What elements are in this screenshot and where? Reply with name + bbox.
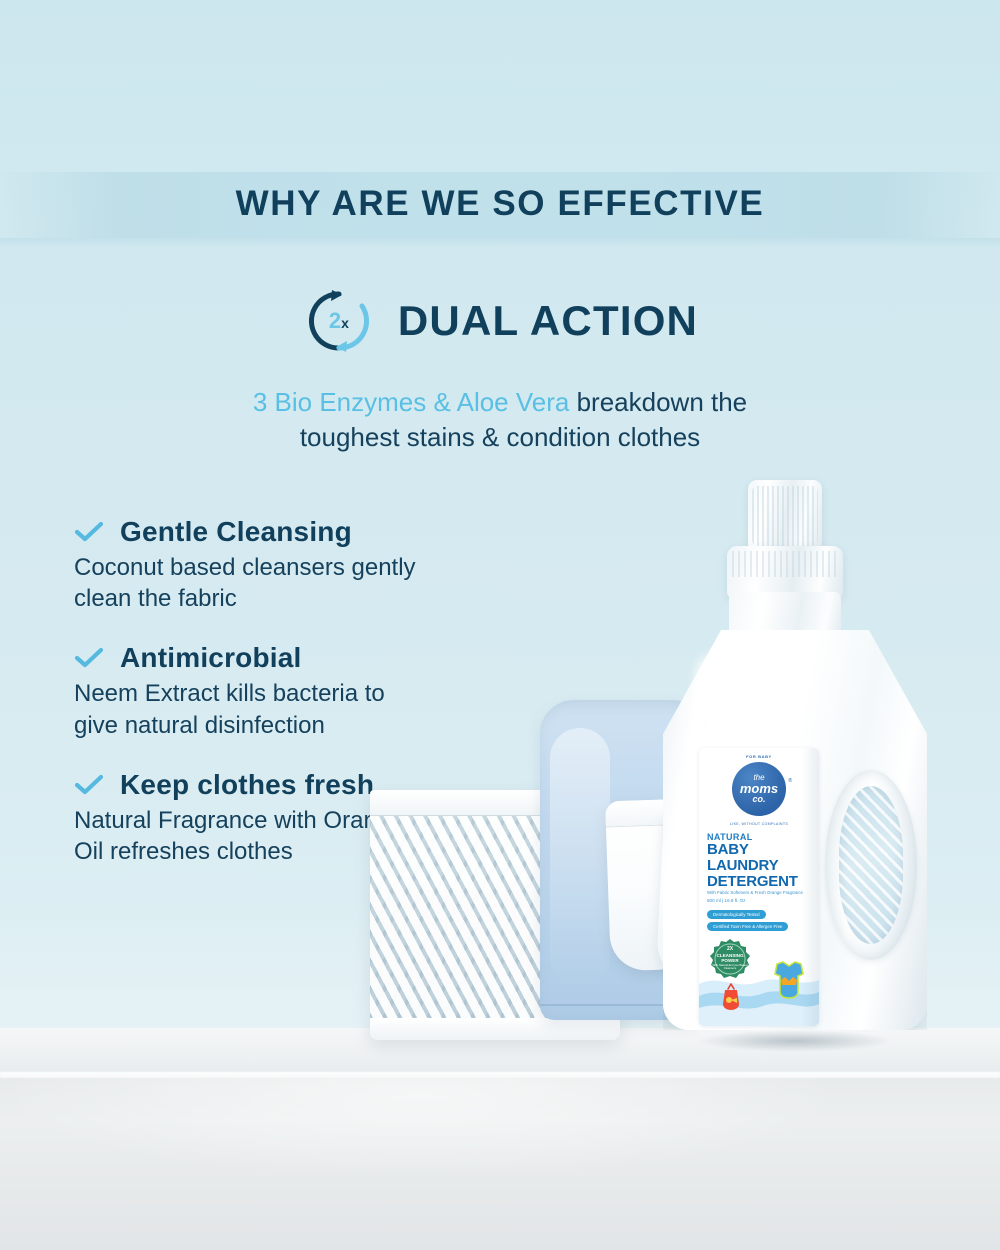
benefit-body-line1: Neem Extract kills bacteria to (74, 680, 385, 707)
table-front-panel (0, 1078, 1000, 1250)
bottle-shadow (661, 1026, 929, 1056)
circular-arrows-2x-icon: 2x (302, 284, 376, 358)
brand-arc-top: FOR BABY (724, 754, 794, 759)
dual-action-row: 2x DUAL ACTION (0, 284, 1000, 358)
dual-action-badge-number: 2 (329, 308, 341, 333)
benefit-header: Antimicrobial (74, 642, 574, 674)
product-marketing-banner: WHY ARE WE SO EFFECTIVE 2x DUAL ACTION 3… (0, 0, 1000, 1250)
basket-base (370, 1018, 620, 1040)
benefit-body-line2: give natural disinfection (74, 712, 325, 739)
product-bottle: FOR BABY the moms co. ® LIKE, WITHOUT CO… (655, 480, 935, 1050)
bottle-cap (748, 480, 822, 554)
label-name-line1: BABY (707, 841, 749, 858)
subtitle-rest: breakdown the (569, 387, 747, 417)
benefit-body-line2: Oil refreshes clothes (74, 838, 293, 865)
registered-mark: ® (788, 778, 792, 784)
check-icon (74, 521, 104, 543)
check-icon (74, 647, 104, 669)
dual-action-title: DUAL ACTION (398, 297, 698, 345)
check-icon (74, 774, 104, 796)
brand-logo-circle: the moms co. (732, 762, 786, 816)
benefit-title: Antimicrobial (120, 642, 302, 674)
benefit-item: Gentle Cleansing Coconut based cleansers… (74, 516, 574, 614)
brand-logo: FOR BABY the moms co. ® LIKE, WITHOUT CO… (724, 754, 794, 824)
label-name-line2: LAUNDRY (707, 857, 778, 874)
dual-action-subtitle: 3 Bio Enzymes & Aloe Vera breakdown the … (0, 385, 1000, 456)
subtitle-highlight: 3 Bio Enzymes & Aloe Vera (253, 387, 570, 417)
benefit-body-line2: clean the fabric (74, 585, 237, 612)
bottle-handle-hole (839, 786, 903, 944)
laundry-bag-icon (719, 982, 743, 1012)
bottle-handle (825, 770, 917, 960)
benefit-body: Coconut based cleansers gently clean the… (74, 552, 574, 614)
label-description: With Fabric Softeners & Fresh Orange Fra… (707, 890, 813, 897)
product-label: FOR BABY the moms co. ® LIKE, WITHOUT CO… (699, 748, 819, 1026)
label-curvature-shade (801, 748, 819, 1026)
label-name-line3: DETERGENT (707, 873, 798, 890)
benefit-body-line1: Natural Fragrance with Orange (74, 807, 403, 834)
bottle-cap-base (727, 546, 843, 598)
brand-line-2: moms (740, 782, 778, 795)
subtitle-line2: toughest stains & condition clothes (300, 422, 700, 452)
dual-action-badge-suffix: x (341, 315, 349, 331)
brand-line-3: co. (752, 795, 765, 804)
benefit-header: Gentle Cleansing (74, 516, 574, 548)
benefit-title: Gentle Cleansing (120, 516, 352, 548)
label-badge-toxin-free: Certified Toxin Free & Allergen Free (707, 922, 788, 931)
page-title: WHY ARE WE SO EFFECTIVE (0, 184, 1000, 224)
brand-arc-bottom: LIKE, WITHOUT COMPLAINTS (724, 822, 794, 826)
benefit-body-line1: Coconut based cleansers gently (74, 554, 416, 581)
label-badge-dermatologically-tested: Dermatologically Tested (707, 910, 766, 919)
benefit-title: Keep clothes fresh (120, 769, 374, 801)
label-size: 500 ml | 16.9 fl. Oz (707, 898, 745, 903)
label-product-name: BABY LAUNDRY DETERGENT (707, 842, 813, 890)
